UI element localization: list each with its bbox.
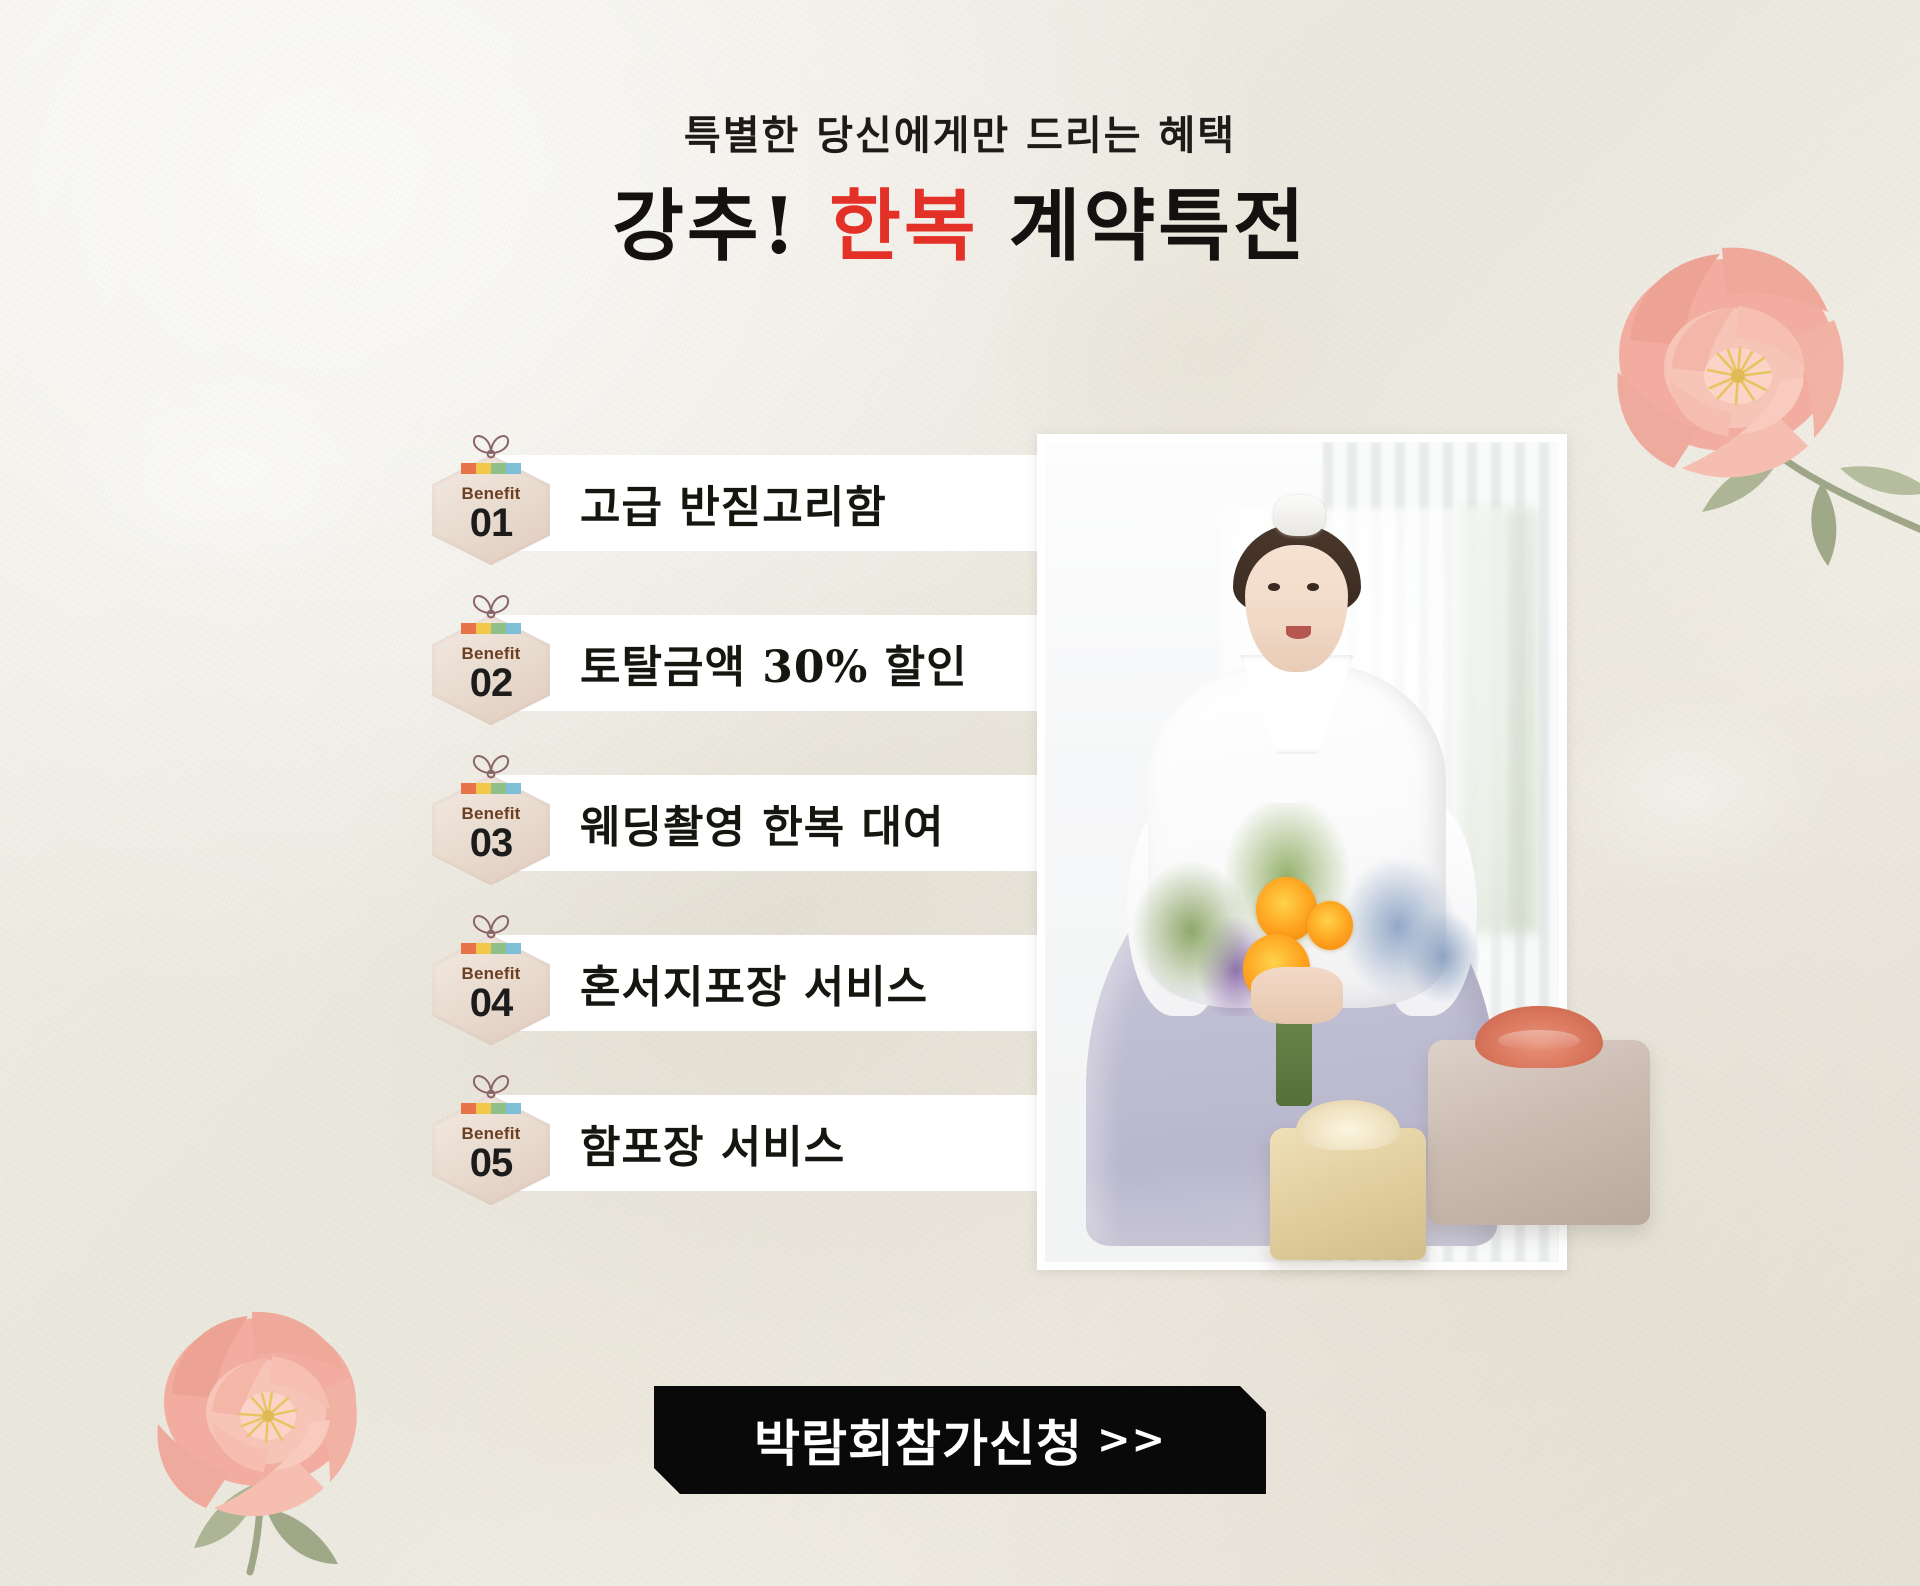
benefit-badge: Benefit 05 <box>432 1081 550 1205</box>
benefit-text: 고급 반짇고리함 <box>580 455 887 551</box>
bojagi-knot <box>1475 1006 1603 1068</box>
chevron-right-icon: >> <box>1097 1417 1166 1463</box>
benefit-text: 함포장 서비스 <box>580 1095 845 1191</box>
cta-area: 박람회참가신청 >> <box>0 1386 1920 1494</box>
title-accent-hanbok: 한복 <box>829 181 979 272</box>
badge-text: Benefit 04 <box>432 935 550 1045</box>
bride-hands <box>1251 967 1344 1024</box>
benefit-text: 혼서지포장 서비스 <box>580 935 928 1031</box>
badge-text: Benefit 03 <box>432 775 550 885</box>
benefit-badge: Benefit 02 <box>432 601 550 725</box>
bojagi-gift-small <box>1270 1128 1426 1260</box>
badge-number: 05 <box>470 1142 513 1184</box>
badge-label: Benefit <box>461 965 520 982</box>
title-part-pre: 강추! <box>612 181 829 272</box>
badge-number: 02 <box>470 662 513 704</box>
badge-number: 04 <box>470 982 513 1024</box>
benefit-text: 웨딩촬영 한복 대여 <box>580 775 944 871</box>
page-subtitle: 특별한 당신에게만 드리는 혜택 <box>0 112 1920 160</box>
headline-block: 특별한 당신에게만 드리는 혜택 강추! 한복 계약특전 <box>0 112 1920 272</box>
badge-label: Benefit <box>461 1125 520 1142</box>
badge-text: Benefit 05 <box>432 1095 550 1205</box>
badge-label: Benefit <box>461 805 520 822</box>
badge-number: 03 <box>470 822 513 864</box>
apply-expo-button[interactable]: 박람회참가신청 >> <box>654 1386 1266 1494</box>
benefit-badge: Benefit 03 <box>432 761 550 885</box>
hanbok-headpiece <box>1274 495 1325 536</box>
badge-label: Benefit <box>461 485 520 502</box>
page-title: 강추! 한복 계약특전 <box>0 182 1920 272</box>
title-part-post: 계약특전 <box>979 181 1308 272</box>
badge-number: 01 <box>470 502 513 544</box>
benefit-badge: Benefit 04 <box>432 921 550 1045</box>
bojagi-gift-large <box>1428 1040 1650 1225</box>
benefit-badge: Benefit 01 <box>432 441 550 565</box>
cta-label: 박람회참가신청 <box>754 1404 1083 1476</box>
badge-text: Benefit 01 <box>432 455 550 565</box>
promo-page: 특별한 당신에게만 드리는 혜택 강추! 한복 계약특전 <box>0 0 1920 1586</box>
badge-label: Benefit <box>461 645 520 662</box>
bride-smile <box>1286 626 1312 639</box>
badge-text: Benefit 02 <box>432 615 550 725</box>
benefit-text: 토탈금액 30% 할인 <box>580 615 968 711</box>
